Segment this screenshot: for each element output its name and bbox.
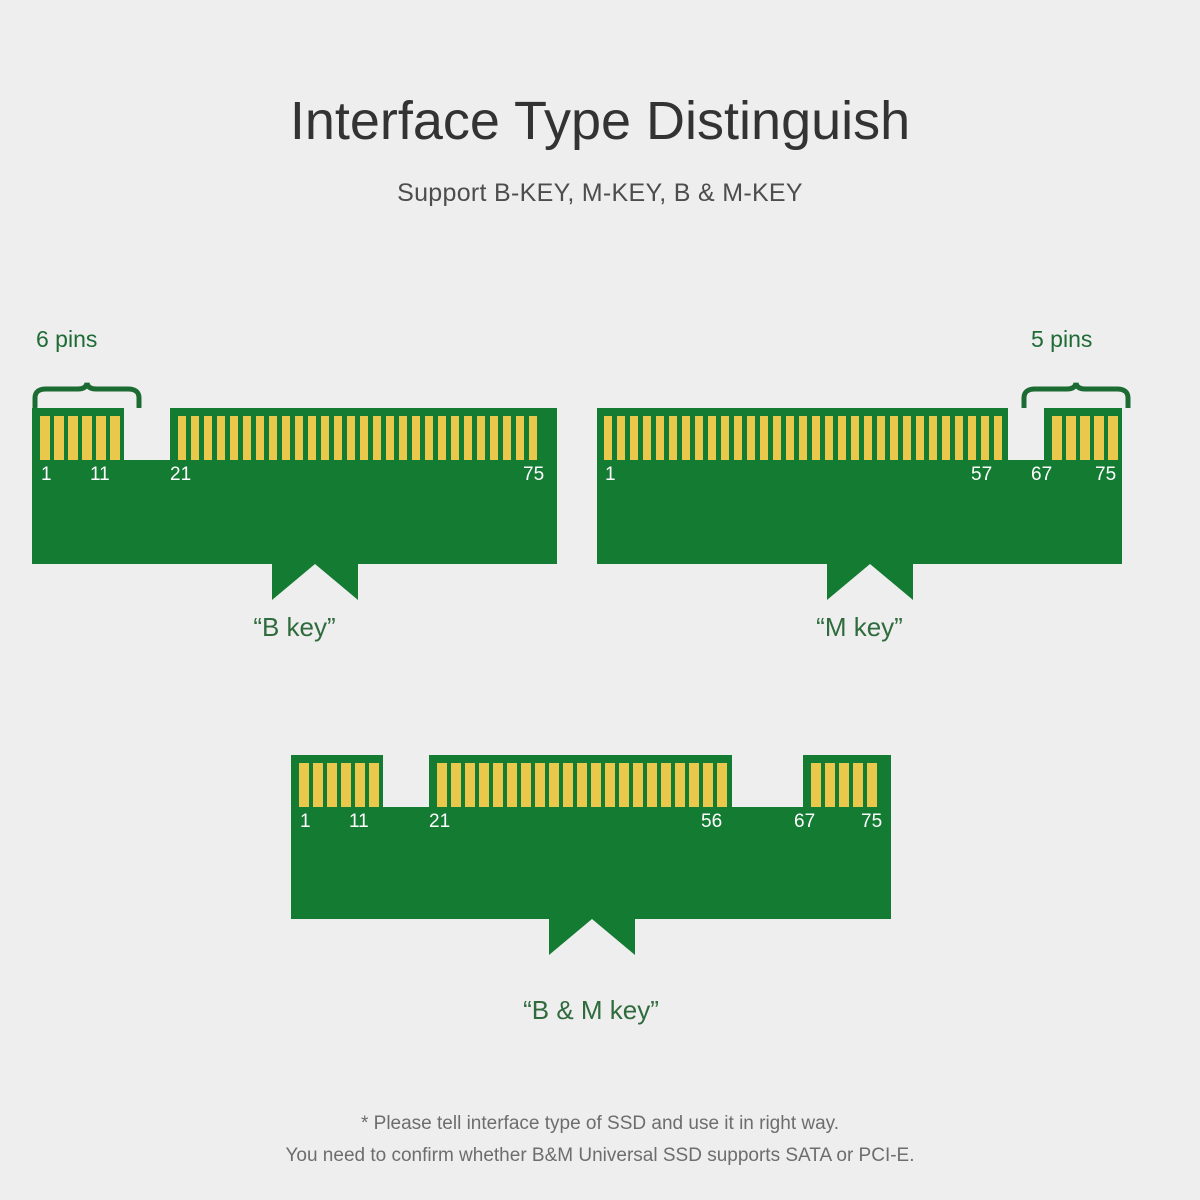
- pin: [630, 416, 638, 460]
- pin: [54, 416, 64, 460]
- pin: [479, 763, 489, 807]
- pin: [438, 416, 446, 460]
- pin-label: 11: [349, 811, 369, 833]
- pin: [493, 763, 503, 807]
- pin: [717, 763, 727, 807]
- pin: [341, 763, 351, 807]
- pin: [721, 416, 729, 460]
- pin: [734, 416, 742, 460]
- footer-line-2: You need to confirm whether B&M Universa…: [0, 1140, 1200, 1172]
- pin: [465, 763, 475, 807]
- footer-line-1: * Please tell interface type of SSD and …: [0, 1108, 1200, 1140]
- pin: [40, 416, 50, 460]
- pin: [529, 416, 537, 460]
- pin: [955, 416, 963, 460]
- pin: [633, 763, 643, 807]
- pin-label: 75: [1095, 464, 1116, 486]
- b-key-brace-icon: [32, 382, 142, 408]
- pin: [981, 416, 989, 460]
- page-title: Interface Type Distinguish: [0, 92, 1200, 151]
- board-m-key: 5 pins: [597, 372, 1122, 642]
- pin: [399, 416, 407, 460]
- pin-label: 67: [1031, 464, 1052, 486]
- pin: [786, 416, 794, 460]
- pin: [464, 416, 472, 460]
- pin: [386, 416, 394, 460]
- pin: [877, 416, 885, 460]
- m-key-pins-caption: 5 pins: [1031, 326, 1092, 353]
- pin: [605, 763, 615, 807]
- pin: [425, 416, 433, 460]
- pin: [643, 416, 651, 460]
- pin: [812, 416, 820, 460]
- pin: [929, 416, 937, 460]
- pin: [321, 416, 329, 460]
- pin: [1052, 416, 1062, 460]
- pin-label: 67: [794, 811, 815, 833]
- pin: [327, 763, 337, 807]
- b-key-bottom-notch: [272, 564, 358, 600]
- pin: [682, 416, 690, 460]
- pin-label: 56: [701, 811, 722, 833]
- pin: [256, 416, 264, 460]
- pin: [516, 416, 524, 460]
- pin: [669, 416, 677, 460]
- b-key-substrate: [32, 460, 557, 564]
- pin: [867, 763, 877, 807]
- pin: [825, 416, 833, 460]
- pin: [549, 763, 559, 807]
- board-b-key: 6 pins: [32, 372, 557, 642]
- pin: [308, 416, 316, 460]
- board-bm-key: 1 11 21 56 67 75 “B & M key”: [291, 755, 891, 1035]
- bm-key-bottom-notch: [549, 919, 635, 955]
- pin: [191, 416, 199, 460]
- pin: [451, 763, 461, 807]
- pin: [851, 416, 859, 460]
- b-key-caption: “B key”: [32, 612, 557, 643]
- pin: [563, 763, 573, 807]
- pin: [811, 763, 821, 807]
- pin: [591, 763, 601, 807]
- pin: [369, 763, 379, 807]
- page-subtitle: Support B-KEY, M-KEY, B & M-KEY: [0, 179, 1200, 208]
- pin: [347, 416, 355, 460]
- pin: [617, 416, 625, 460]
- pin: [656, 416, 664, 460]
- pin-label: 1: [41, 464, 52, 486]
- pin: [503, 416, 511, 460]
- m-key-caption: “M key”: [597, 612, 1122, 643]
- pin-label: 57: [971, 464, 992, 486]
- pin: [647, 763, 657, 807]
- pin: [577, 763, 587, 807]
- pin: [68, 416, 78, 460]
- pin: [968, 416, 976, 460]
- pin: [82, 416, 92, 460]
- pin: [839, 763, 849, 807]
- pin: [204, 416, 212, 460]
- pin: [825, 763, 835, 807]
- pin: [695, 416, 703, 460]
- pin: [994, 416, 1002, 460]
- pin: [299, 763, 309, 807]
- header: Interface Type Distinguish Support B-KEY…: [0, 0, 1200, 208]
- pin: [838, 416, 846, 460]
- bm-key-caption: “B & M key”: [291, 995, 891, 1026]
- pin: [1080, 416, 1090, 460]
- pin: [661, 763, 671, 807]
- pin: [1108, 416, 1118, 460]
- pin: [295, 416, 303, 460]
- m-key-bottom-notch: [827, 564, 913, 600]
- pin: [747, 416, 755, 460]
- pin: [760, 416, 768, 460]
- pin: [451, 416, 459, 460]
- pin: [864, 416, 872, 460]
- pin-label: 75: [523, 464, 544, 486]
- pin: [903, 416, 911, 460]
- pin-label: 21: [429, 811, 450, 833]
- pin: [269, 416, 277, 460]
- pin: [282, 416, 290, 460]
- pin: [230, 416, 238, 460]
- pin: [373, 416, 381, 460]
- pin: [355, 763, 365, 807]
- pin-label: 21: [170, 464, 191, 486]
- pin: [853, 763, 863, 807]
- pin-label: 75: [861, 811, 882, 833]
- pin: [178, 416, 186, 460]
- pin: [535, 763, 545, 807]
- pin: [799, 416, 807, 460]
- pin: [110, 416, 120, 460]
- pin: [703, 763, 713, 807]
- pin: [412, 416, 420, 460]
- pin: [1094, 416, 1104, 460]
- pin: [521, 763, 531, 807]
- pin-label: 1: [300, 811, 311, 833]
- pin: [604, 416, 612, 460]
- pin: [619, 763, 629, 807]
- pin: [890, 416, 898, 460]
- footer-note: * Please tell interface type of SSD and …: [0, 1108, 1200, 1172]
- pin: [217, 416, 225, 460]
- pin: [507, 763, 517, 807]
- pin: [1066, 416, 1076, 460]
- pin: [96, 416, 106, 460]
- pin: [334, 416, 342, 460]
- pin: [708, 416, 716, 460]
- m-key-brace-icon: [1021, 382, 1131, 408]
- pin: [360, 416, 368, 460]
- pin: [689, 763, 699, 807]
- pin: [675, 763, 685, 807]
- pin: [313, 763, 323, 807]
- pin: [916, 416, 924, 460]
- pin-label: 1: [605, 464, 616, 486]
- pin: [490, 416, 498, 460]
- pin: [437, 763, 447, 807]
- pin: [942, 416, 950, 460]
- pin-label: 11: [90, 464, 110, 486]
- pin: [243, 416, 251, 460]
- b-key-pins-caption: 6 pins: [36, 326, 97, 353]
- pin: [477, 416, 485, 460]
- pin: [773, 416, 781, 460]
